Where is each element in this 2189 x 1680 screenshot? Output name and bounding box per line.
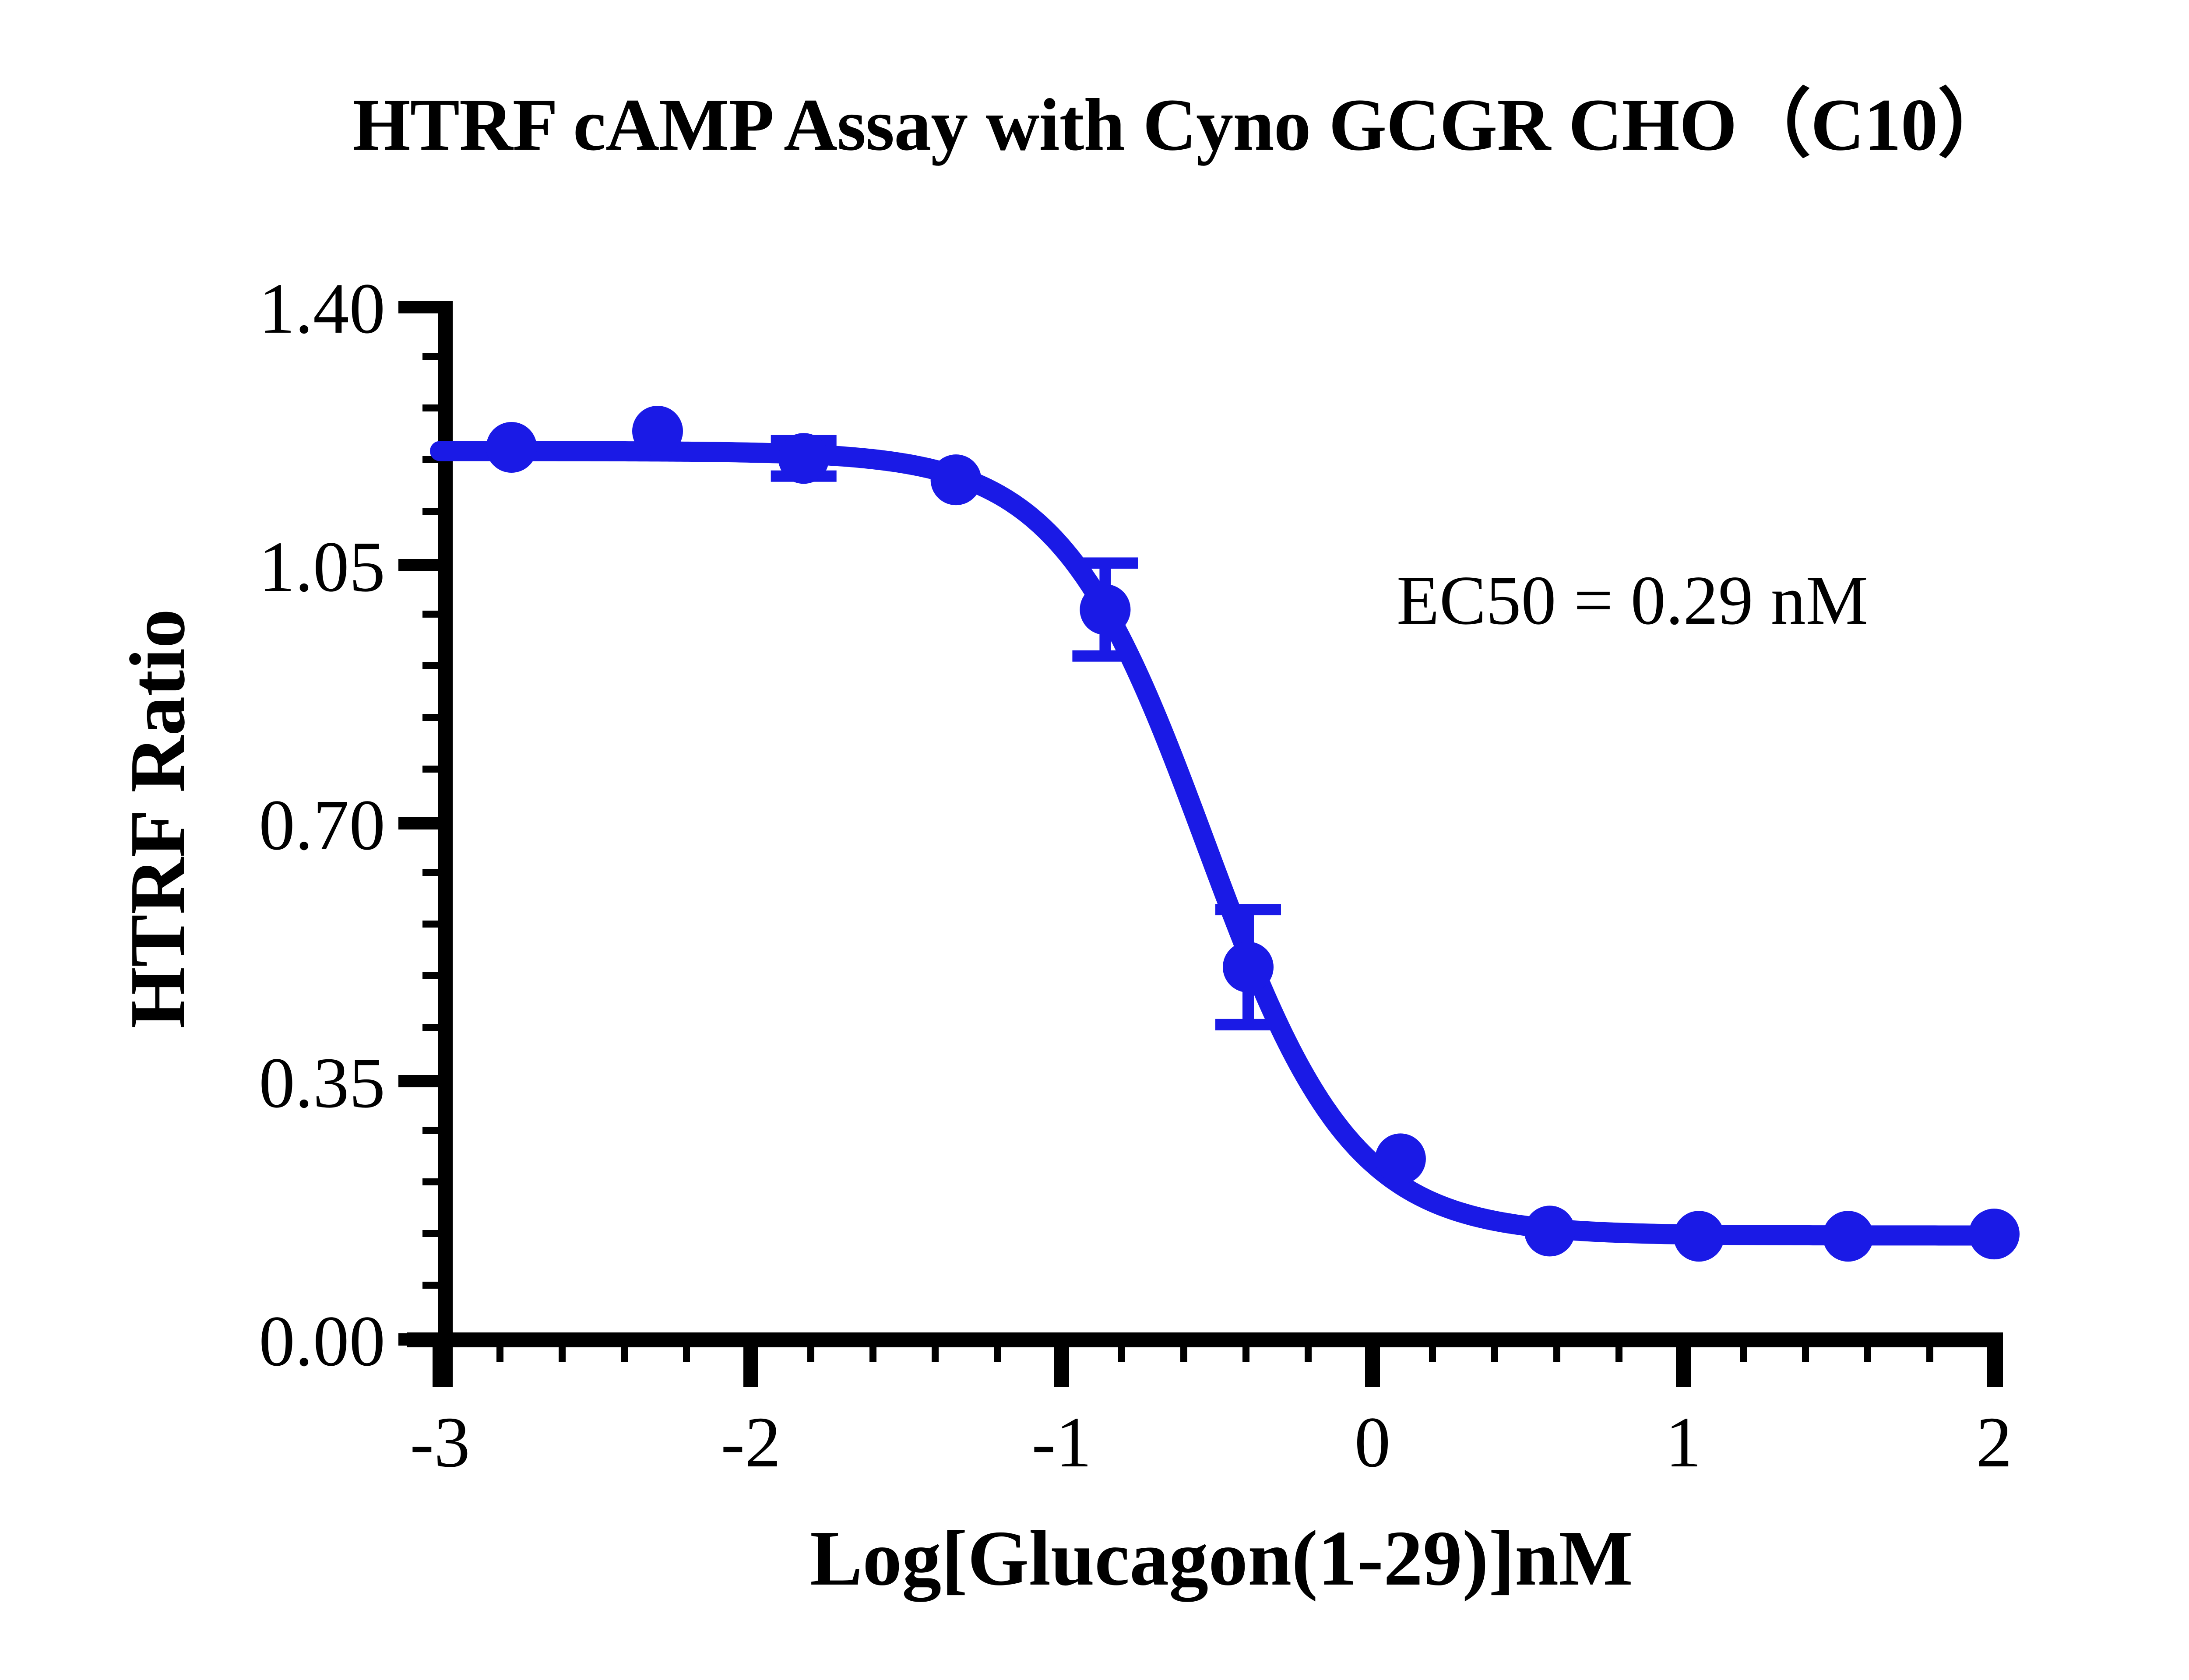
x-minor-ticks [496,1347,1933,1362]
data-point-marker [931,454,982,505]
data-point-marker [486,422,537,473]
y-tick-0-35 [398,1075,439,1087]
x-tick-label-4: 1 [1665,1402,1702,1482]
x-tick-neg2 [743,1347,758,1387]
x-tick-neg3 [433,1347,447,1387]
y-tick-label-3: 1.05 [259,527,385,607]
y-axis-title: HTRF Ratio [114,609,201,1028]
figure-container: HTRF cAMP Assay with Cyno GCGR CHO（C10） [0,0,2189,1680]
data-point-marker [1674,1211,1724,1262]
y-tick-label-2: 0.70 [259,785,385,865]
y-tick-1-40 [398,301,439,313]
data-point-marker [1823,1211,1873,1262]
ec50-annotation: EC50 = 0.29 nM [1397,561,1868,639]
data-point-marker [632,406,683,457]
x-tick-label-3: 0 [1355,1402,1391,1482]
data-point-marker [1524,1206,1575,1256]
x-axis-line [407,1332,2003,1347]
x-tick-label-0: -3 [410,1402,470,1482]
y-tick-label-4: 1.40 [259,268,385,348]
x-tick-2 [1987,1347,2002,1387]
x-tick-label-5: 2 [1976,1402,2013,1482]
data-point-marker [778,433,829,484]
data-point-marker [1223,942,1274,992]
x-tick-1 [1676,1347,1691,1387]
chart-plot: 1.40 1.05 0.70 0.35 0.00 -3 -2 -1 0 1 2 … [0,0,2189,1680]
x-tick-labels: -3 -2 -1 0 1 2 [410,1402,2012,1482]
y-tick-labels: 1.40 1.05 0.70 0.35 0.00 [259,268,385,1381]
data-point-marker [1969,1209,2020,1259]
data-point-marker [1375,1133,1426,1184]
x-tick-neg1 [1054,1347,1069,1387]
y-axis-line [438,301,453,1387]
data-point-marker [1080,584,1130,635]
data-markers-group [486,406,2020,1262]
x-axis-title: Log[Glucagon(1-29)]nM [810,1515,1633,1602]
y-tick-0-00 [398,1333,439,1346]
y-tick-label-0: 0.00 [259,1301,385,1381]
y-tick-1-05 [398,559,439,571]
x-tick-label-2: -1 [1031,1402,1091,1482]
y-tick-label-1: 0.35 [259,1043,385,1123]
x-major-ticks [433,1347,2002,1387]
x-tick-0 [1365,1347,1380,1387]
y-tick-0-70 [398,817,439,829]
x-tick-label-1: -2 [721,1402,781,1482]
